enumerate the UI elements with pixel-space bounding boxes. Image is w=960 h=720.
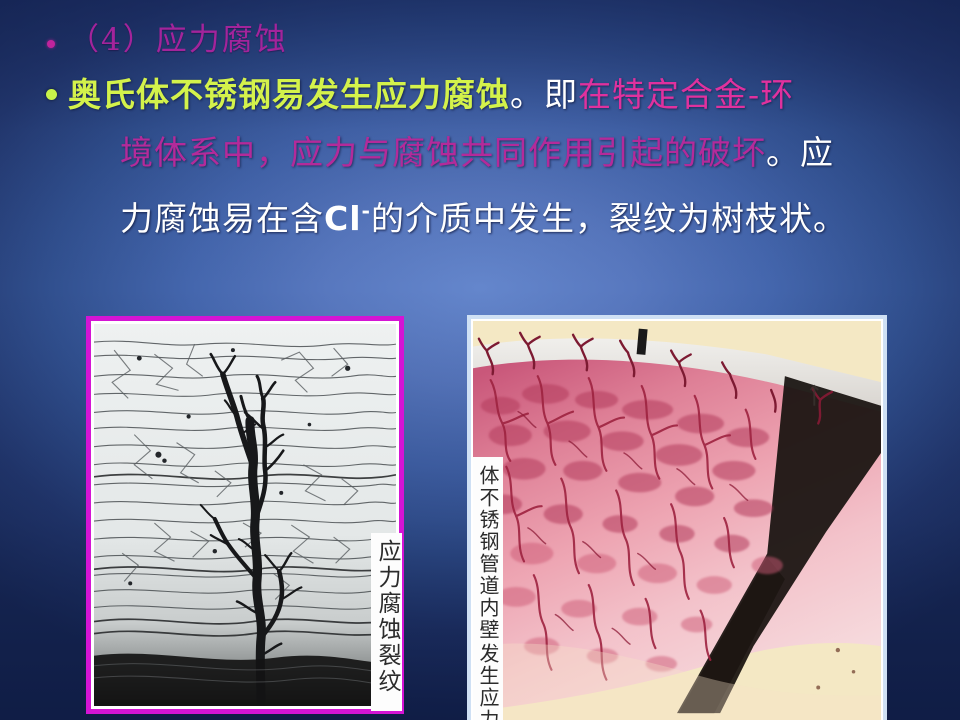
line2-seg-white: 。应 (766, 133, 834, 172)
heading-row: （4）应力腐蚀 (34, 18, 940, 62)
figure-right-caption: 发生应力腐蚀奥氏 体不锈钢管道内壁 (473, 457, 503, 720)
line2-seg-magenta: 境体系中，应力与腐蚀共同作用引起的破坏 (120, 133, 766, 172)
corrosion-photo-image (473, 321, 881, 720)
paragraph-bullet-icon (34, 66, 68, 102)
line1-seg-period: 。 (510, 75, 544, 114)
line3-seg-white-b: 的介质中发生，裂纹为树枝状。 (371, 199, 847, 238)
figure-left-caption: 应力腐蚀裂纹 (371, 533, 402, 711)
micrograph-drawing (94, 324, 396, 706)
paragraph-line-1: 奥氏体不锈钢易发生应力腐蚀。即在特定合金-环 (68, 66, 928, 124)
micrograph-image (94, 324, 396, 706)
line3-seg-white-a: 力腐蚀易在含 (120, 199, 324, 238)
paragraph-row: 奥氏体不锈钢易发生应力腐蚀。即在特定合金-环 境体系中，应力与腐蚀共同作用引起的… (34, 66, 940, 248)
heading-bullet-icon (34, 18, 68, 51)
chloride-ion-charge: - (362, 199, 371, 223)
line1-seg-green: 奥氏体不锈钢易发生应力腐蚀 (68, 75, 510, 114)
body-paragraph: 奥氏体不锈钢易发生应力腐蚀。即在特定合金-环 境体系中，应力与腐蚀共同作用引起的… (68, 66, 928, 248)
figure-right-caption-col-1: 发生应力腐蚀奥氏 (478, 643, 498, 720)
slide-canvas: （4）应力腐蚀 奥氏体不锈钢易发生应力腐蚀。即在特定合金-环 境体系中，应力与腐… (0, 0, 960, 720)
chloride-ion-symbol: Cl (324, 199, 362, 238)
chloride-ion-label: Cl- (324, 199, 371, 238)
line1-seg-magenta: 在特定合金-环 (578, 75, 794, 114)
paragraph-line-2: 境体系中，应力与腐蚀共同作用引起的破坏。应 (68, 124, 928, 182)
figure-corroded-pipe: 发生应力腐蚀奥氏 体不锈钢管道内壁 (467, 315, 887, 720)
page-title: （4）应力腐蚀 (68, 18, 288, 62)
corrosion-photo-drawing (473, 321, 881, 720)
figure-stress-corrosion-crack: 应力腐蚀裂纹 (86, 316, 404, 714)
figure-right-caption-col-2: 体不锈钢管道内壁 (478, 465, 498, 641)
slide-text-block: （4）应力腐蚀 奥氏体不锈钢易发生应力腐蚀。即在特定合金-环 境体系中，应力与腐… (34, 18, 940, 248)
paragraph-line-3: 力腐蚀易在含Cl-的介质中发生，裂纹为树枝状。 (68, 182, 928, 248)
line1-seg-ji: 即 (544, 75, 578, 114)
